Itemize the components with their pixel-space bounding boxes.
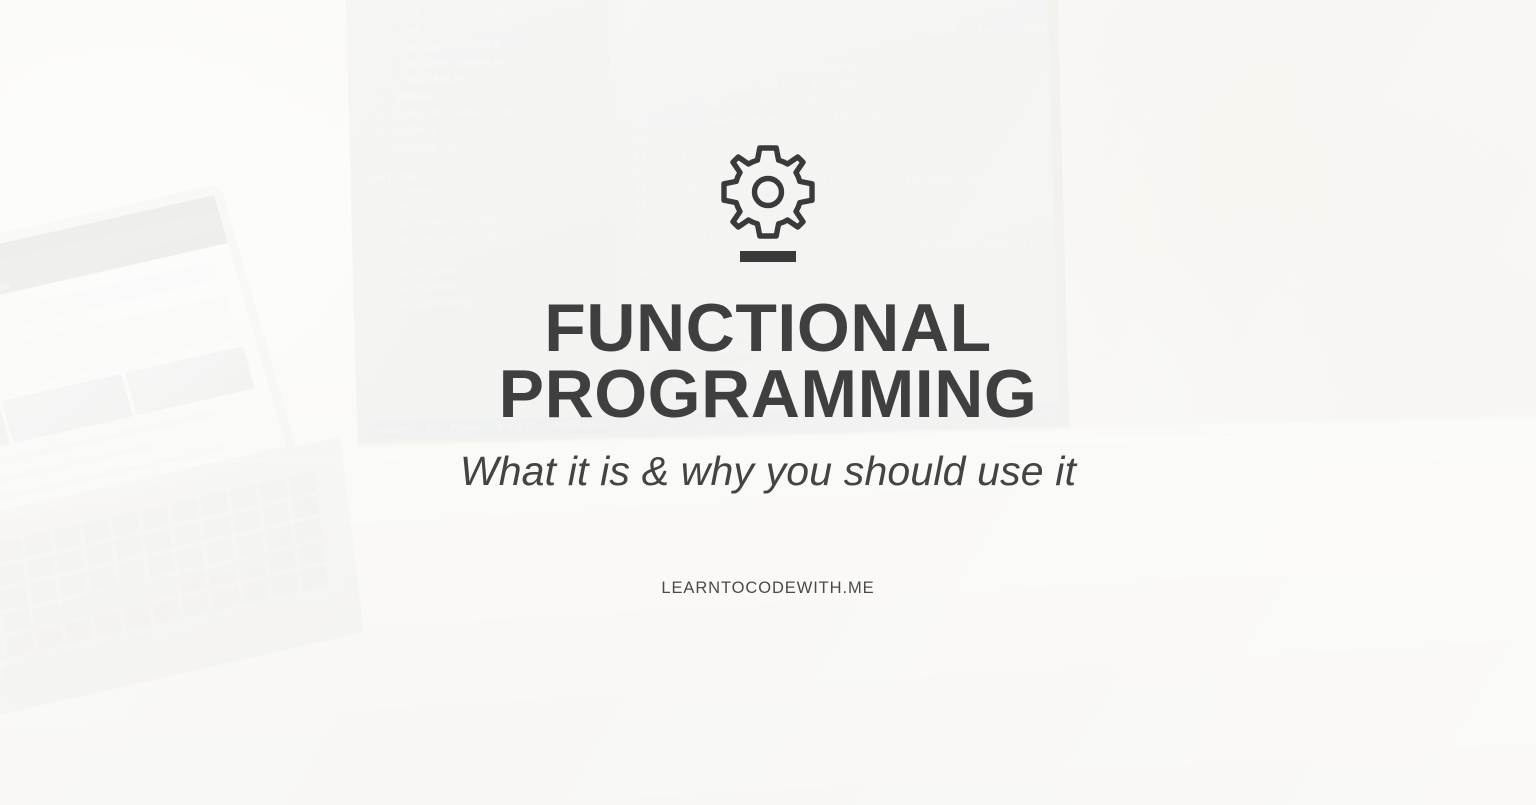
page-subtitle: What it is & why you should use it (460, 448, 1076, 495)
slide-overlay: FUNCTIONAL PROGRAMMING What it is & why … (0, 0, 1536, 805)
gear-icon (712, 142, 824, 282)
gear-underline (740, 251, 796, 262)
brand-label: LEARNTOCODEWITH.ME (661, 579, 874, 598)
slide-canvas: JSget_users_payload.jsM◆get_users_payloa… (0, 0, 1536, 805)
page-title: FUNCTIONAL PROGRAMMING (499, 296, 1038, 428)
